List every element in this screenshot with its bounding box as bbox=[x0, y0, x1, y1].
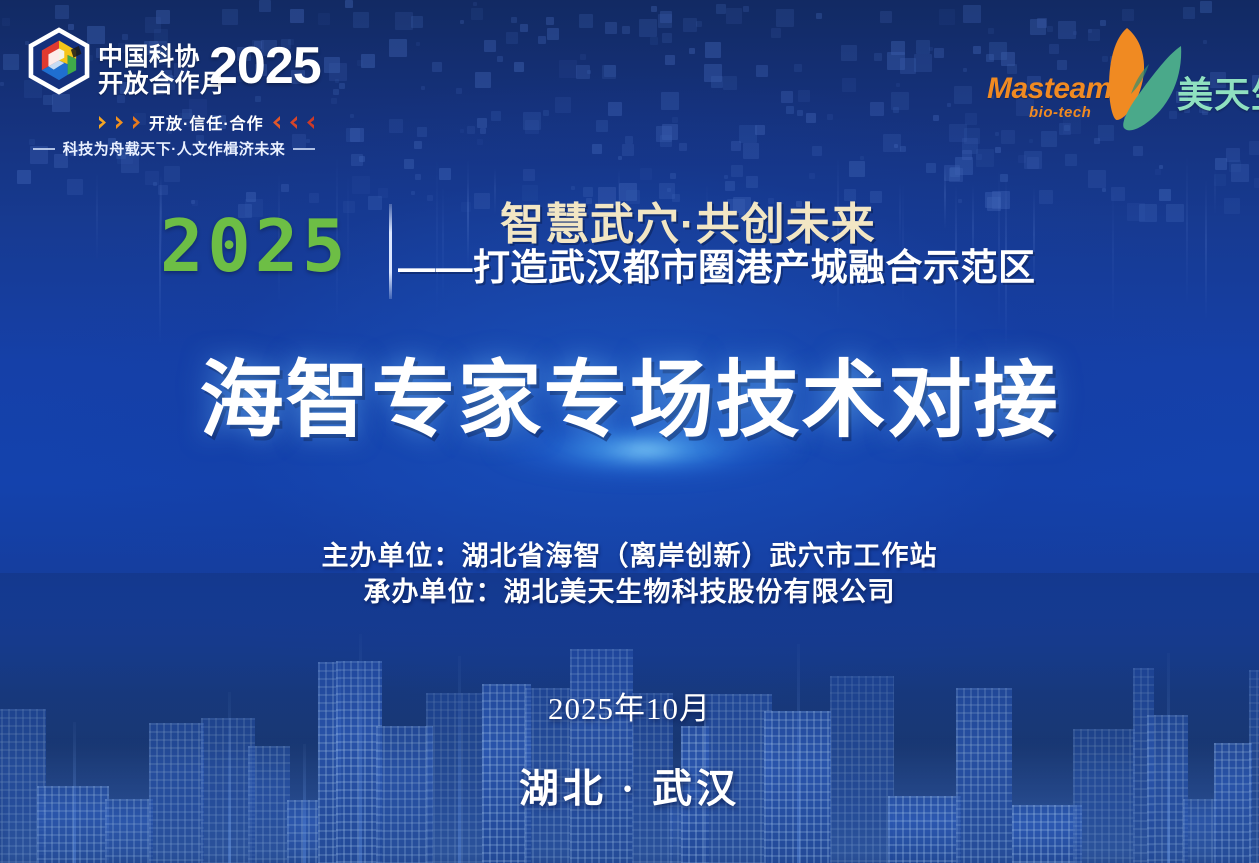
cast-name-lines: 中国科协 开放合作月 bbox=[98, 44, 226, 98]
main-title: 海智专家专场技术对接 bbox=[0, 352, 1259, 448]
cast-motto-row: 科技为舟载天下·人文作楫济未来 bbox=[24, 138, 324, 159]
sponsor-chinese-name: 美天生物 bbox=[1177, 76, 1259, 114]
motto-dash-left bbox=[33, 148, 55, 150]
motto-dash-right bbox=[293, 148, 315, 150]
chevron-right-icon bbox=[98, 116, 107, 129]
chevron-left-icon bbox=[272, 116, 281, 129]
theme-row: 2025 智慧武穴·共创未来 ——打造武汉都市圈港产城融合示范区 bbox=[0, 196, 1259, 306]
chevron-right-icon bbox=[115, 116, 124, 129]
poster-canvas: 中国科协 开放合作月 2025 开放·信任·合作 bbox=[0, 0, 1259, 863]
theme-divider bbox=[389, 204, 392, 299]
cast-slogan-text: 开放·信任·合作 bbox=[149, 110, 264, 134]
theme-sub-slogan: ——打造武汉都市圈港产城融合示范区 bbox=[398, 248, 1036, 288]
sponsor-header-block: Masteam bio-tech 美天生物 bbox=[979, 22, 1249, 142]
cast-name-line1: 中国科协 bbox=[98, 44, 226, 71]
cast-year: 2025 bbox=[209, 40, 321, 92]
cast-hexagon-logo bbox=[26, 26, 92, 96]
cast-header-block: 中国科协 开放合作月 2025 开放·信任·合作 bbox=[14, 18, 324, 148]
theme-main-slogan: 智慧武穴·共创未来 bbox=[500, 202, 876, 248]
theme-year: 2025 bbox=[160, 210, 349, 282]
sponsor-subwordmark: bio-tech bbox=[1029, 104, 1091, 121]
organizer-host: 主办单位：湖北省海智（离岸创新）武穴市工作站 bbox=[0, 538, 1259, 574]
cast-slogan-row: 开放·信任·合作 bbox=[98, 110, 315, 134]
event-date: 2025年10月 bbox=[0, 690, 1259, 728]
cast-name-line2: 开放合作月 bbox=[98, 71, 226, 98]
chevron-left-icon bbox=[306, 116, 315, 129]
organizer-undertaker: 承办单位：湖北美天生物科技股份有限公司 bbox=[0, 574, 1259, 610]
cast-motto-text: 科技为舟载天下·人文作楫济未来 bbox=[63, 138, 286, 159]
event-place: 湖北 · 武汉 bbox=[0, 765, 1259, 813]
chevron-left-icon bbox=[289, 116, 298, 129]
chevron-right-icon bbox=[132, 116, 141, 129]
organizer-block: 主办单位：湖北省海智（离岸创新）武穴市工作站 承办单位：湖北美天生物科技股份有限… bbox=[0, 538, 1259, 610]
